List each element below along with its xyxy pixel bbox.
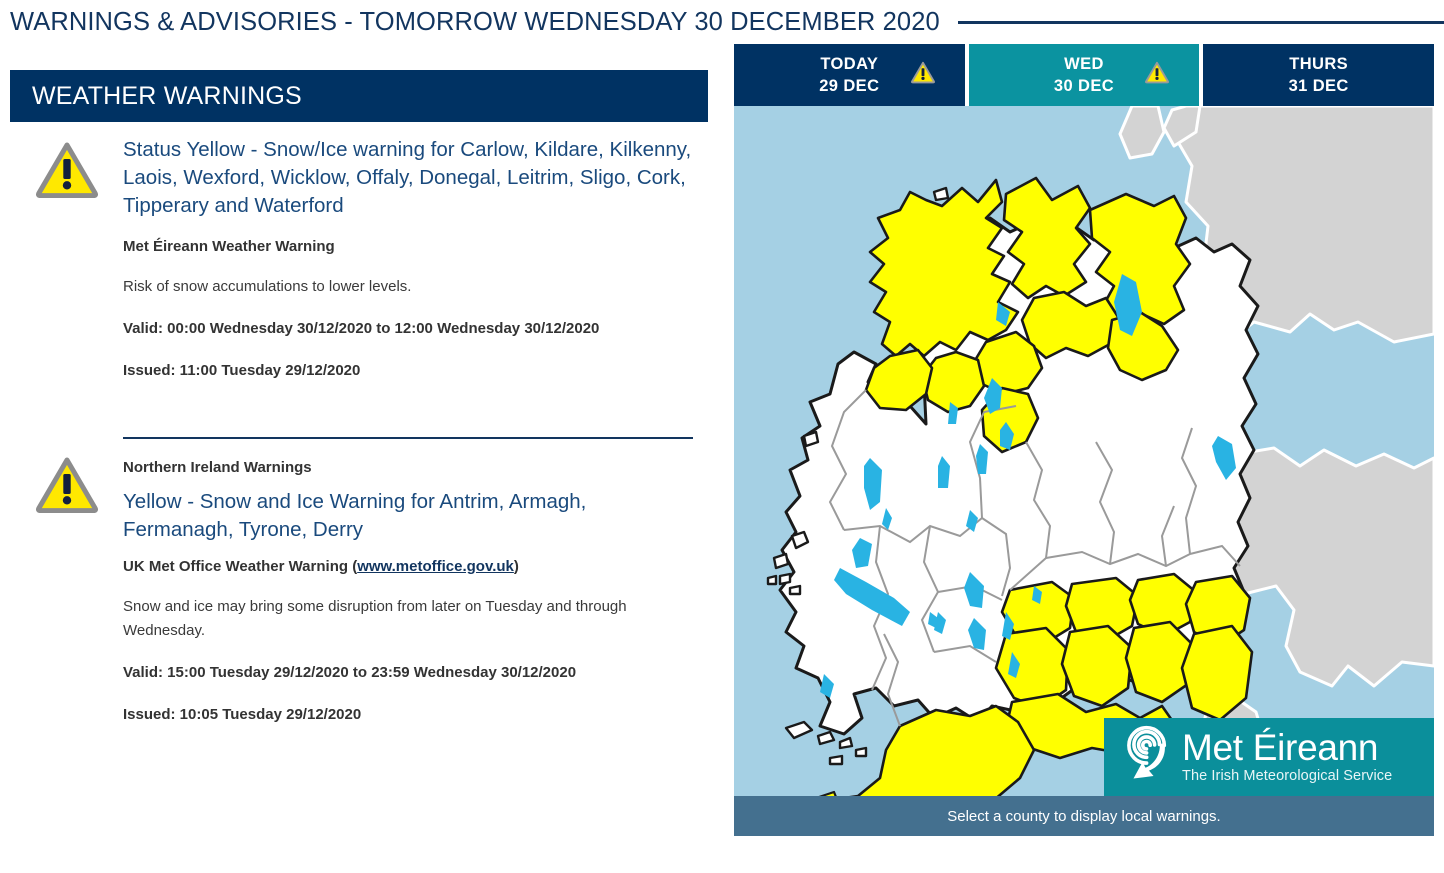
- page-title: WARNINGS & ADVISORIES - TOMORROW WEDNESD…: [10, 8, 940, 37]
- warnings-map[interactable]: Met Éireann The Irish Meteorological Ser…: [734, 106, 1434, 836]
- tab-today-day: TODAY: [819, 53, 879, 75]
- warning-source-suffix: ): [514, 558, 519, 575]
- met-eireann-logo: Met Éireann The Irish Meteorological Ser…: [1104, 718, 1434, 796]
- map-panel: TODAY 29 DEC WED 30 DEC: [734, 44, 1434, 836]
- page-header: WARNINGS & ADVISORIES - TOMORROW WEDNESD…: [0, 0, 1444, 44]
- warning-body: Northern Ireland Warnings Yellow - Snow …: [123, 423, 721, 745]
- warning-region-label: Northern Ireland Warnings: [123, 457, 695, 478]
- title-rule: [958, 21, 1444, 24]
- warning-item-ni: Northern Ireland Warnings Yellow - Snow …: [10, 423, 730, 745]
- warning-triangle-icon: [36, 457, 98, 513]
- weather-warnings-banner-title: WEATHER WARNINGS: [32, 82, 302, 111]
- warnings-panel: WEATHER WARNINGS Status Yellow - Snow/Ic…: [0, 44, 730, 745]
- tab-thurs-day: THURS: [1289, 53, 1349, 75]
- tab-today[interactable]: TODAY 29 DEC: [734, 44, 965, 106]
- tab-today-date: 29 DEC: [819, 75, 879, 97]
- island-tory: [804, 432, 818, 446]
- island-clare: [774, 554, 788, 568]
- tab-warning-triangle-icon: [1145, 62, 1169, 89]
- main-layout: WEATHER WARNINGS Status Yellow - Snow/Ic…: [0, 44, 1444, 873]
- warning-heading[interactable]: Yellow - Snow and Ice Warning for Antrim…: [123, 488, 695, 544]
- warning-source: UK Met Office Weather Warning (www.metof…: [123, 556, 695, 577]
- warning-source-prefix: UK Met Office Weather Warning (: [123, 558, 357, 575]
- weather-warnings-banner: WEATHER WARNINGS: [10, 70, 708, 122]
- warning-icon-cell: [10, 423, 123, 513]
- warning-heading[interactable]: Status Yellow - Snow/Ice warning for Car…: [123, 136, 695, 220]
- county-kilkenny: [1062, 626, 1132, 706]
- day-tabs: TODAY 29 DEC WED 30 DEC: [734, 44, 1434, 106]
- tab-thurs-date: 31 DEC: [1289, 75, 1349, 97]
- met-eireann-spiral-icon: [1116, 724, 1178, 790]
- warning-issued: Issued: 10:05 Tuesday 29/12/2020: [123, 703, 695, 727]
- map-footer-hint: Select a county to display local warning…: [947, 808, 1220, 825]
- tab-thurs[interactable]: THURS 31 DEC: [1203, 44, 1434, 106]
- warning-source: Met Éireann Weather Warning: [123, 236, 695, 257]
- warning-triangle-icon: [36, 142, 98, 198]
- warning-valid: Valid: 00:00 Wednesday 30/12/2020 to 12:…: [123, 317, 695, 341]
- tab-wed-day: WED: [1054, 53, 1114, 75]
- island-small-5: [856, 748, 866, 756]
- warning-icon-cell: [10, 136, 123, 198]
- warning-description: Snow and ice may bring some disruption f…: [123, 595, 695, 643]
- warning-divider: [123, 437, 693, 439]
- tab-warning-triangle-icon: [911, 62, 935, 89]
- metoffice-link[interactable]: www.metoffice.gov.uk: [357, 558, 514, 575]
- island-inishbofin: [780, 574, 790, 584]
- logo-subtitle: The Irish Meteorological Service: [1182, 767, 1392, 785]
- warning-item-ie: Status Yellow - Snow/Ice warning for Car…: [10, 136, 730, 401]
- warning-body: Status Yellow - Snow/Ice warning for Car…: [123, 136, 721, 401]
- map-footer: Select a county to display local warning…: [734, 796, 1434, 836]
- warning-issued: Issued: 11:00 Tuesday 29/12/2020: [123, 359, 695, 383]
- tab-wed[interactable]: WED 30 DEC: [969, 44, 1200, 106]
- logo-title: Met Éireann: [1182, 729, 1392, 767]
- warning-valid: Valid: 15:00 Tuesday 29/12/2020 to 23:59…: [123, 661, 695, 685]
- island-small-1: [768, 576, 776, 584]
- island-small-2: [790, 586, 800, 594]
- warning-description: Risk of snow accumulations to lower leve…: [123, 275, 695, 299]
- tab-wed-date: 30 DEC: [1054, 75, 1114, 97]
- warning-list: Status Yellow - Snow/Ice warning for Car…: [10, 136, 730, 745]
- county-derry: [1004, 178, 1090, 298]
- island-small-6: [830, 756, 842, 764]
